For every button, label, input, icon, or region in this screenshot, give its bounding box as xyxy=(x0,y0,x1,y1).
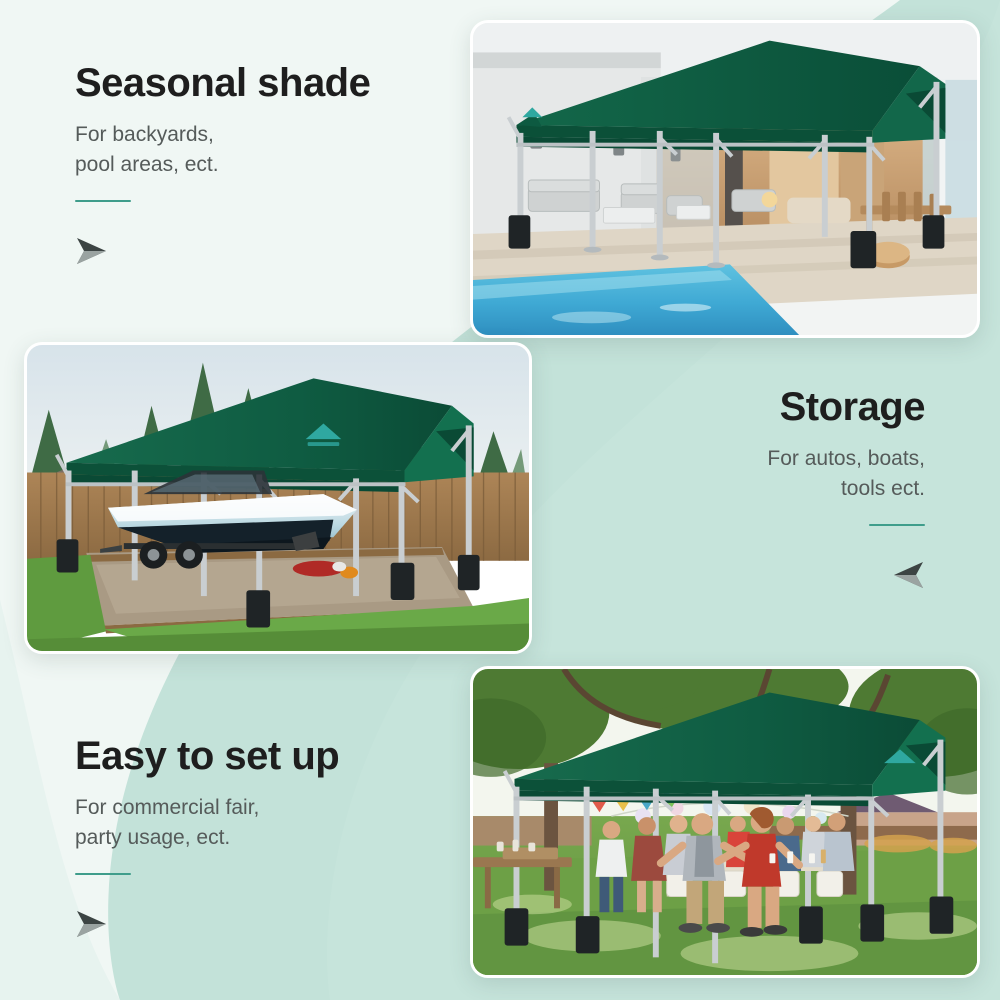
photo-pool-patio xyxy=(473,23,977,335)
panel-subtitle-line2: pool areas, ect. xyxy=(75,150,370,180)
panel-subtitle: For commercial fair, party usage, ect. xyxy=(75,793,339,853)
photo-card-pool-patio[interactable] xyxy=(470,20,980,338)
panel-subtitle-line1: For autos, boats, xyxy=(767,444,925,474)
panel-title: Seasonal shade xyxy=(75,62,370,104)
photo-garden-party xyxy=(473,669,977,975)
panel-subtitle-line1: For backyards, xyxy=(75,120,370,150)
panel-divider xyxy=(75,873,131,875)
panel-subtitle: For backyards, pool areas, ect. xyxy=(75,120,370,180)
panel-subtitle-line2: tools ect. xyxy=(767,474,925,504)
panel-title: Easy to set up xyxy=(75,735,339,777)
panel-subtitle-line1: For commercial fair, xyxy=(75,793,339,823)
photo-boat-carport xyxy=(27,345,529,651)
photo-card-boat-carport[interactable] xyxy=(24,342,532,654)
panel-subtitle-line2: party usage, ect. xyxy=(75,823,339,853)
arrow-left-cursor-icon xyxy=(891,560,925,590)
photo-card-garden-party[interactable] xyxy=(470,666,980,978)
arrow-right-cursor-icon xyxy=(75,236,109,266)
panel-subtitle: For autos, boats, tools ect. xyxy=(767,444,925,504)
panel-seasonal-shade: Seasonal shade For backyards, pool areas… xyxy=(75,62,370,266)
panel-storage: Storage For autos, boats, tools ect. xyxy=(767,386,925,590)
arrow-right-cursor-icon xyxy=(75,909,109,939)
panel-divider xyxy=(75,200,131,202)
panel-title: Storage xyxy=(767,386,925,428)
panel-divider xyxy=(869,524,925,526)
infographic-stage: Seasonal shade For backyards, pool areas… xyxy=(0,0,1000,1000)
panel-easy-to-set-up: Easy to set up For commercial fair, part… xyxy=(75,735,339,939)
